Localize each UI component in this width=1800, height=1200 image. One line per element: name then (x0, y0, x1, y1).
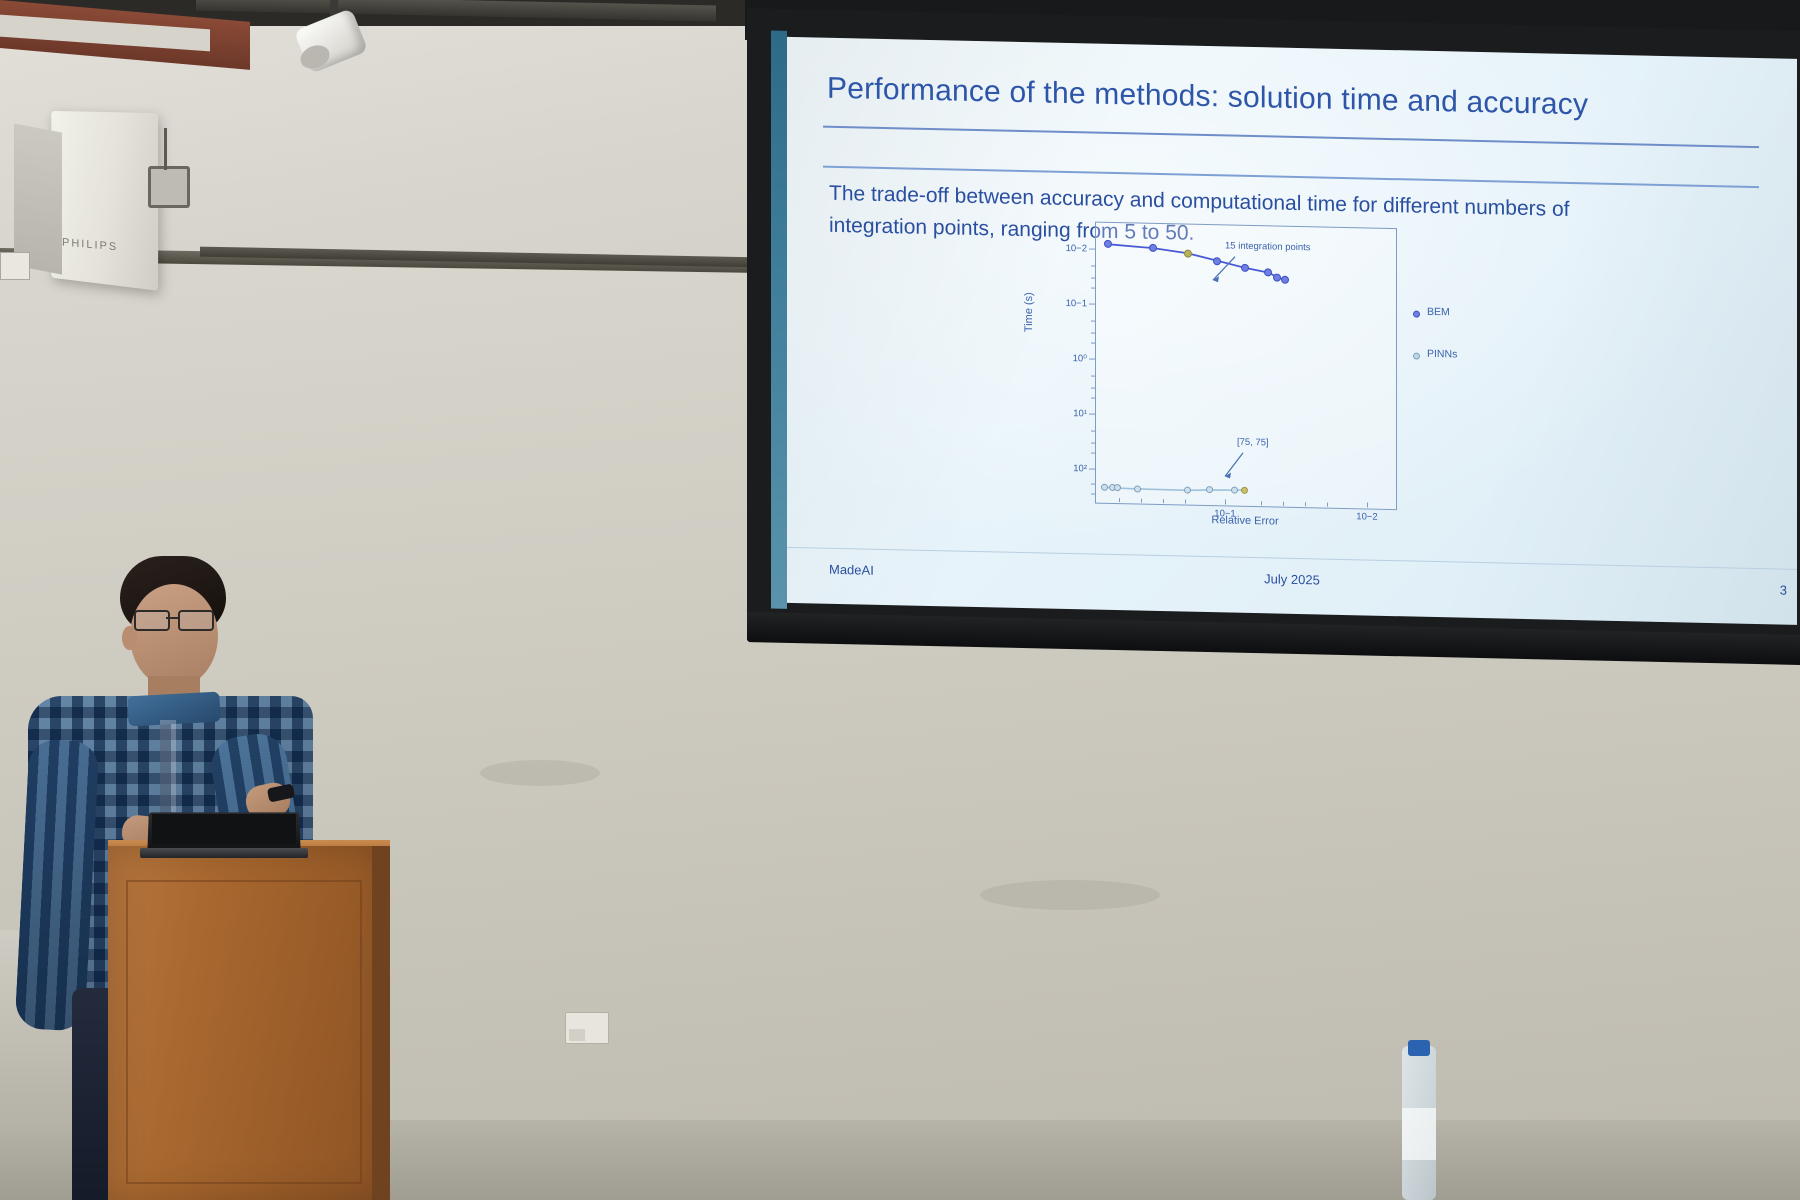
bottle-label (1402, 1108, 1436, 1160)
laptop-screen (152, 814, 296, 844)
projection-screen: Performance of the methods: solution tim… (747, 8, 1800, 656)
data-point-pinns-7 (1241, 487, 1248, 494)
data-point-bem-2 (1184, 249, 1192, 257)
legend-label-bem: BEM (1427, 306, 1450, 318)
performance-chart: Time (s) Relative Error 10−2 10−1 10⁰ 10… (1029, 214, 1414, 534)
presentation-slide: Performance of the methods: solution tim… (787, 37, 1797, 625)
data-point-bem-7 (1281, 276, 1289, 284)
legend-marker-pinns (1413, 353, 1420, 360)
data-point-pinns-6 (1231, 487, 1238, 494)
podium-side (372, 846, 390, 1200)
screenshot-root: PHILIPS Performance of the methods: solu… (0, 0, 1800, 1200)
annotation-pinn-config: [75, 75] (1237, 437, 1269, 449)
wall-outlet (565, 1012, 609, 1044)
data-point-bem-3 (1213, 257, 1221, 265)
data-point-pinns-3 (1134, 485, 1141, 492)
glasses-icon (134, 610, 214, 628)
laptop-base (140, 848, 308, 858)
footer-page-number: 3 (1780, 583, 1787, 598)
speaker-bracket (148, 166, 190, 208)
annotation-arrow-2 (1219, 448, 1259, 487)
annotation-integration-points: 15 integration points (1225, 240, 1311, 253)
speaker-cable (164, 128, 167, 170)
wall-box (0, 252, 30, 280)
slide-left-accent-bar (771, 31, 787, 609)
wall-speaker (51, 111, 158, 291)
data-point-bem-4 (1241, 264, 1249, 272)
legend-marker-bem (1413, 311, 1420, 318)
data-point-pinns-0 (1101, 484, 1108, 491)
data-point-bem-0 (1104, 240, 1112, 248)
slide-title: Performance of the methods: solution tim… (827, 72, 1757, 126)
presenter-face (130, 584, 218, 688)
bottle-cap (1408, 1040, 1430, 1056)
legend-label-pinns: PINNs (1427, 348, 1457, 361)
podium-front-panel (126, 880, 362, 1184)
title-divider (823, 126, 1759, 148)
